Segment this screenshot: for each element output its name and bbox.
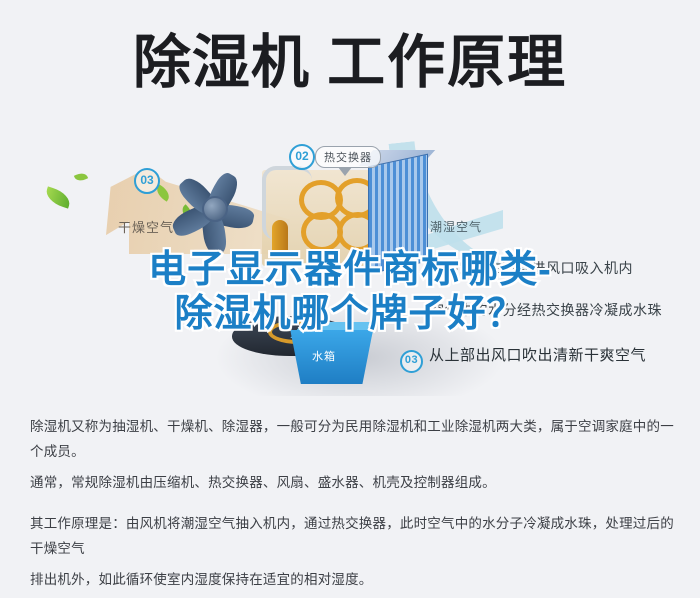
water-tank-label: 水箱 xyxy=(312,348,336,364)
caption-line-01: 潮湿空气由下部进风口吸入机内 xyxy=(430,258,633,278)
paragraph-3: 其工作原理是：由风机将潮湿空气抽入机内，通过热交换器，此时空气中的水分子冷凝成水… xyxy=(30,511,678,561)
caption-line-03: 03从上部出风口吹出清新干爽空气 xyxy=(400,344,646,373)
paragraph-2: 通常，常规除湿机由压缩机、热交换器、风扇、盛水器、机壳及控制器组成。 xyxy=(30,470,678,495)
page-title: 除湿机 工作原理 xyxy=(0,30,700,96)
page-title-part2: 工作原理 xyxy=(327,30,567,95)
heat-exchanger-callout: 热交换器 xyxy=(315,146,381,168)
paragraph-1: 除湿机又称为抽湿机、干燥机、除湿器，一般可分为民用除湿机和工业除湿机两大类，属于… xyxy=(30,414,678,464)
leaf-icon xyxy=(43,186,72,208)
heat-exchanger-fins xyxy=(368,154,428,275)
paragraph-4: 排出机外，如此循环使室内湿度保持在适宜的相对湿度。 xyxy=(30,567,678,592)
hero-infographic: 除湿机 工作原理 干燥空气 03 潮湿空气 01 xyxy=(0,0,700,408)
caption-line-03-text: 从上部出风口吹出清新干爽空气 xyxy=(429,347,646,364)
compressor-cylinder xyxy=(272,220,288,258)
page-root: 除湿机 工作原理 干燥空气 03 潮湿空气 01 xyxy=(0,0,700,566)
fan-icon xyxy=(168,163,262,257)
humid-air-label: 潮湿空气 xyxy=(430,218,482,235)
leaf-icon xyxy=(74,171,88,183)
badge-03-caption: 03 xyxy=(400,350,423,373)
page-title-part1: 除湿机 xyxy=(133,30,310,95)
body-copy: 除湿机又称为抽湿机、干燥机、除湿器，一般可分为民用除湿机和工业除湿机两大类，属于… xyxy=(30,414,678,598)
caption-line-02: 空气中的水分经热交换器冷凝成水珠 xyxy=(430,300,662,320)
badge-03: 03 xyxy=(134,168,160,194)
dry-air-label: 干燥空气 xyxy=(118,217,174,236)
fan-hub xyxy=(202,196,228,222)
badge-02: 02 xyxy=(289,144,315,170)
